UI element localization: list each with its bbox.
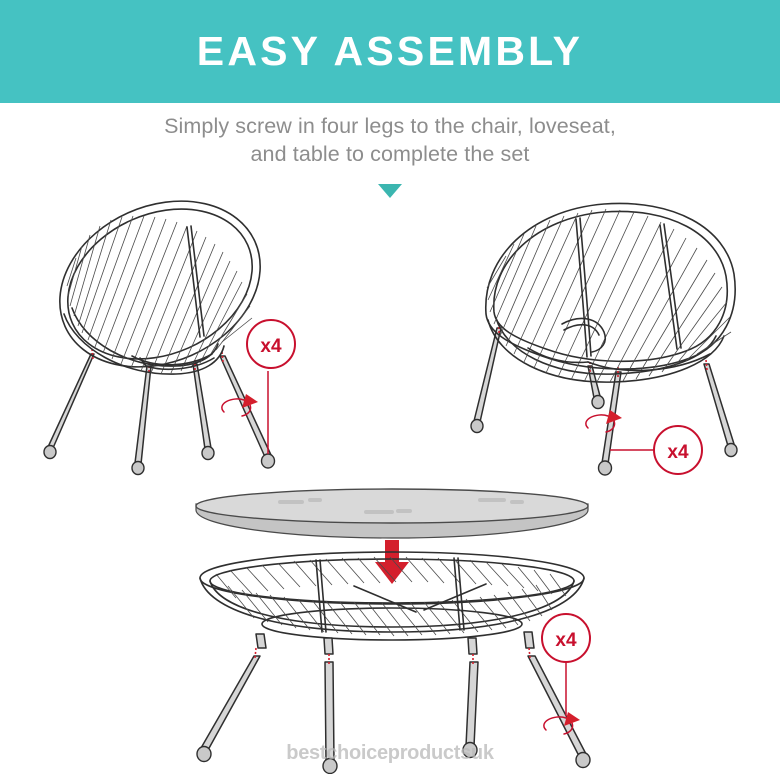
subtitle-line-2: and table to complete the set <box>0 140 780 168</box>
chair-illustration: x4 <box>28 196 340 486</box>
loveseat-badge-label: x4 <box>667 442 689 463</box>
triangle-down-icon <box>378 184 402 198</box>
subtitle-block: Simply screw in four legs to the chair, … <box>0 112 780 168</box>
subtitle-line-1: Simply screw in four legs to the chair, … <box>0 112 780 140</box>
loveseat-rotation-arrow <box>586 410 622 432</box>
loveseat-illustration: x4 <box>438 196 770 486</box>
header-banner: EASY ASSEMBLY <box>0 0 780 103</box>
loveseat-seat-basket <box>486 203 735 382</box>
chair-legs <box>44 349 275 475</box>
table-illustration: x4 <box>168 482 624 774</box>
table-glass-top <box>196 489 588 538</box>
chair-seat-basket <box>33 196 286 398</box>
chair-badge-label: x4 <box>260 336 282 357</box>
table-badge-label: x4 <box>555 630 577 651</box>
product-infographic-page: EASY ASSEMBLY Simply screw in four legs … <box>0 0 780 780</box>
page-title: EASY ASSEMBLY <box>197 31 583 72</box>
watermark: bestchoiceproductsuk <box>0 742 780 765</box>
loveseat-quantity-badge: x4 <box>610 426 702 474</box>
table-quantity-badge: x4 <box>542 614 590 716</box>
